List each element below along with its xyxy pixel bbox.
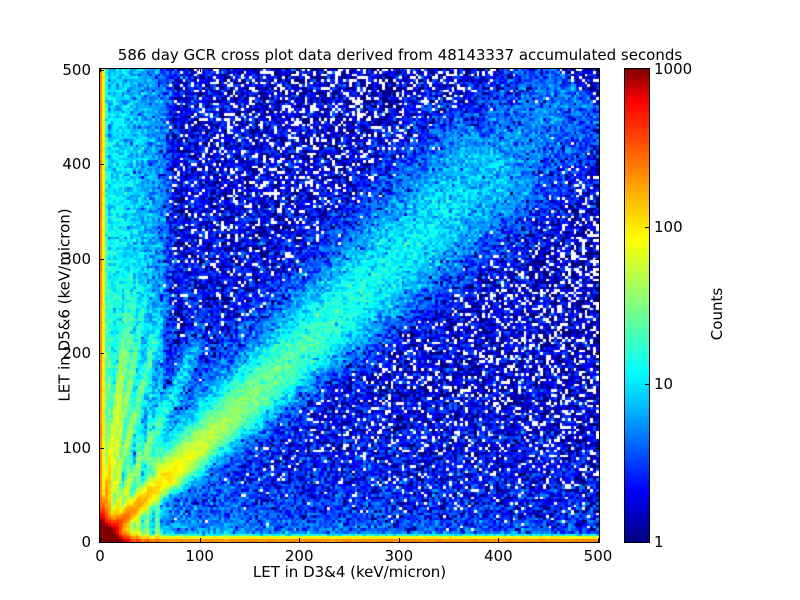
y-tick-mark bbox=[100, 542, 104, 543]
figure-canvas: 586 day GCR cross plot data derived from… bbox=[0, 0, 800, 600]
y-tick-mark bbox=[100, 353, 104, 354]
colorbar-tick-mark bbox=[645, 384, 649, 385]
x-tick-mark bbox=[200, 538, 201, 542]
colorbar-tick-label: 10 bbox=[654, 375, 673, 393]
x-tick-mark-top bbox=[299, 68, 300, 72]
y-tick-mark-right bbox=[595, 448, 599, 449]
colorbar-gradient bbox=[624, 68, 650, 543]
x-tick-mark bbox=[498, 538, 499, 542]
colorbar-tick-label: 1000 bbox=[654, 60, 692, 78]
y-tick-mark bbox=[100, 164, 104, 165]
y-tick-mark bbox=[100, 259, 104, 260]
x-tick-mark-top bbox=[399, 68, 400, 72]
y-tick-mark bbox=[100, 448, 104, 449]
y-axis-label: LET in D5&6 (keV/micron) bbox=[56, 68, 74, 543]
colorbar-tick-label: 100 bbox=[654, 218, 683, 236]
plot-area bbox=[99, 68, 600, 543]
y-tick-mark-right bbox=[595, 259, 599, 260]
colorbar-label: Counts bbox=[708, 244, 726, 384]
x-axis-label: LET in D3&4 (keV/micron) bbox=[99, 563, 600, 581]
y-tick-mark-right bbox=[595, 70, 599, 71]
y-tick-mark-right bbox=[595, 353, 599, 354]
x-tick-mark-top bbox=[498, 68, 499, 72]
colorbar-tick-label: 1 bbox=[654, 533, 664, 551]
x-tick-mark-top bbox=[200, 68, 201, 72]
y-tick-mark bbox=[100, 70, 104, 71]
y-tick-mark-right bbox=[595, 164, 599, 165]
x-tick-mark bbox=[299, 538, 300, 542]
colorbar-tick-mark bbox=[645, 227, 649, 228]
x-tick-mark bbox=[399, 538, 400, 542]
density-scatter-plot bbox=[100, 69, 599, 542]
y-tick-mark-right bbox=[595, 542, 599, 543]
